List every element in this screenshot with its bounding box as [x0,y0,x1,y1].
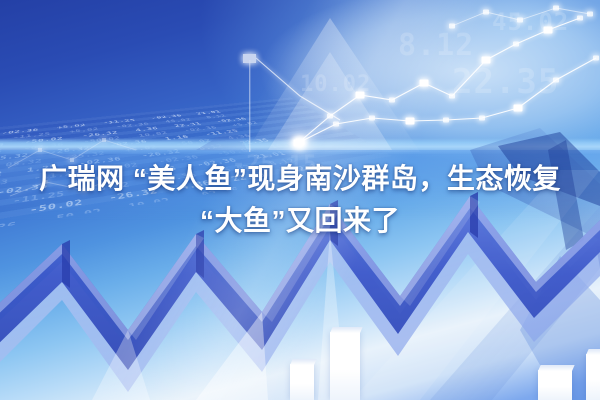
banner-headline: 广瑞网 “美人鱼”现身南沙群岛，生态恢复 “大鱼”又回来了 [22,158,578,242]
news-banner-image: -05.02-02.36+5.02-11.25-02.3621.01-06.35… [0,0,600,400]
